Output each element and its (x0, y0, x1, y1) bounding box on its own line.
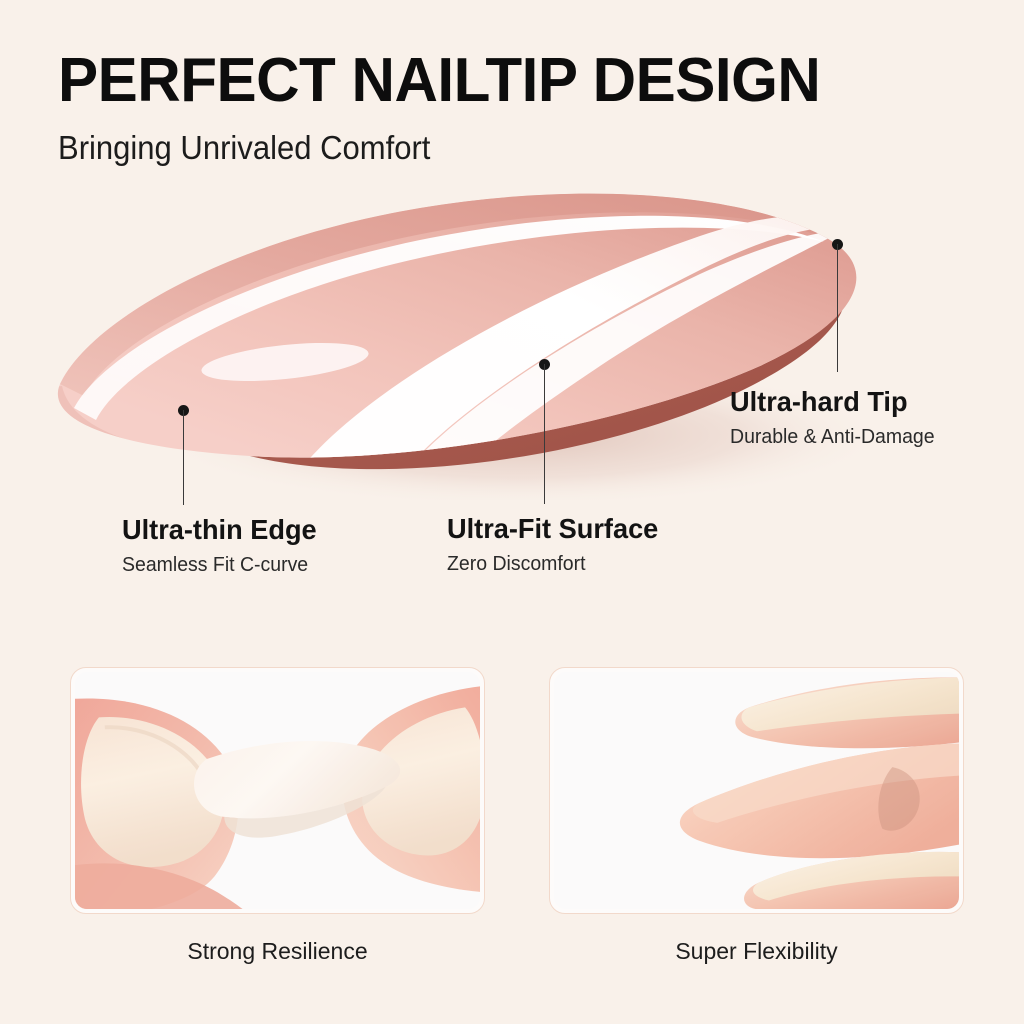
photo-strong-resilience (75, 672, 480, 909)
callout-title: Ultra-Fit Surface (447, 511, 658, 546)
callout-ultra-hard-tip: Ultra-hard Tip Durable & Anti-Damage (730, 384, 945, 450)
leader-stem (183, 410, 185, 505)
callout-subtitle: Durable & Anti-Damage (730, 424, 935, 450)
callout-title: Ultra-thin Edge (122, 512, 317, 547)
callout-ultra-thin-edge: Ultra-thin Edge Seamless Fit C-curve (122, 512, 323, 578)
photo-super-flexibility (554, 672, 959, 909)
card-super-flexibility (549, 667, 964, 914)
callout-subtitle: Seamless Fit C-curve (122, 552, 313, 578)
photo-bending-nail-tip (75, 672, 480, 909)
leader-stem (837, 244, 839, 372)
page-subtitle: Bringing Unrivaled Comfort (58, 128, 430, 168)
caption-strong-resilience: Strong Resilience (70, 938, 485, 966)
photo-soft-overlay (75, 672, 480, 909)
photo-soft-overlay (554, 672, 959, 909)
callout-ultra-fit-surface: Ultra-Fit Surface Zero Discomfort (447, 511, 665, 577)
callout-title: Ultra-hard Tip (730, 384, 939, 419)
nail-tip-svg (0, 170, 1024, 500)
caption-super-flexibility: Super Flexibility (549, 938, 964, 966)
nail-tip-illustration (0, 170, 1024, 500)
callout-subtitle: Zero Discomfort (447, 551, 654, 577)
card-strong-resilience (70, 667, 485, 914)
photo-flexing-fingers (554, 672, 959, 909)
leader-stem (544, 364, 546, 504)
infographic-page: PERFECT NAILTIP DESIGN Bringing Unrivale… (0, 0, 1024, 1024)
page-title: PERFECT NAILTIP DESIGN (58, 50, 820, 112)
